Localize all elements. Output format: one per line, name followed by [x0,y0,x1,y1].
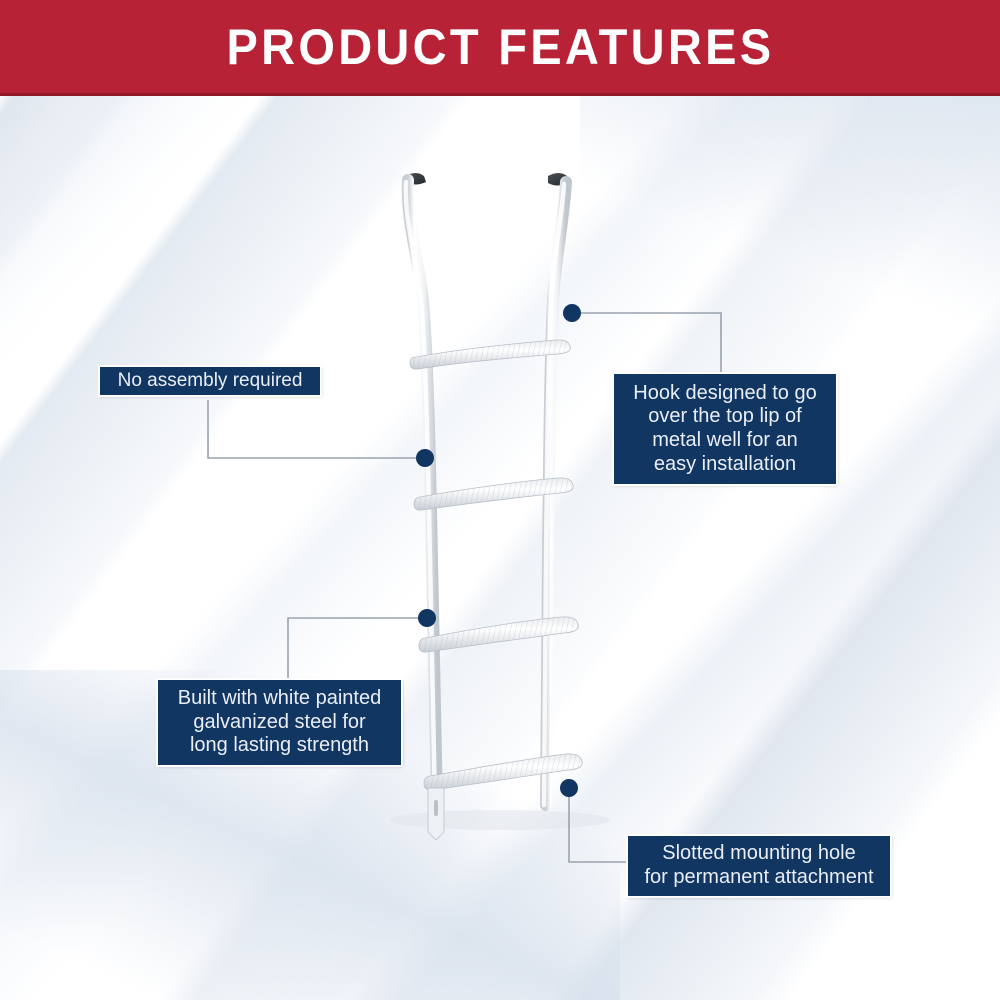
callout-line: metal well for an [652,429,798,453]
callout-slotted-mounting-hole: Slotted mounting hole for permanent atta… [627,835,891,897]
callout-line: galvanized steel for [193,711,365,735]
callout-line: Hook designed to go [633,382,816,406]
callout-hook-design: Hook designed to go over the top lip of … [613,373,837,485]
callout-galvanized-steel: Built with white painted galvanized stee… [157,679,402,766]
header-banner: PRODUCT FEATURES [0,0,1000,96]
callout-line: over the top lip of [648,405,801,429]
callout-line: Built with white painted [178,687,381,711]
slotted-mounting-bracket [428,788,444,840]
page-title: PRODUCT FEATURES [226,22,774,72]
callout-line: for permanent attachment [644,866,873,890]
product-features-infographic: PRODUCT FEATURES [0,0,1000,1000]
callout-no-assembly: No assembly required [99,366,321,396]
callout-line: No assembly required [118,370,303,392]
callout-line: Slotted mounting hole [662,842,855,866]
callout-line: long lasting strength [190,734,369,758]
background-corner-highlight-top-right [580,96,1000,356]
callout-line: easy installation [654,453,796,477]
product-image-ladder [380,160,620,840]
